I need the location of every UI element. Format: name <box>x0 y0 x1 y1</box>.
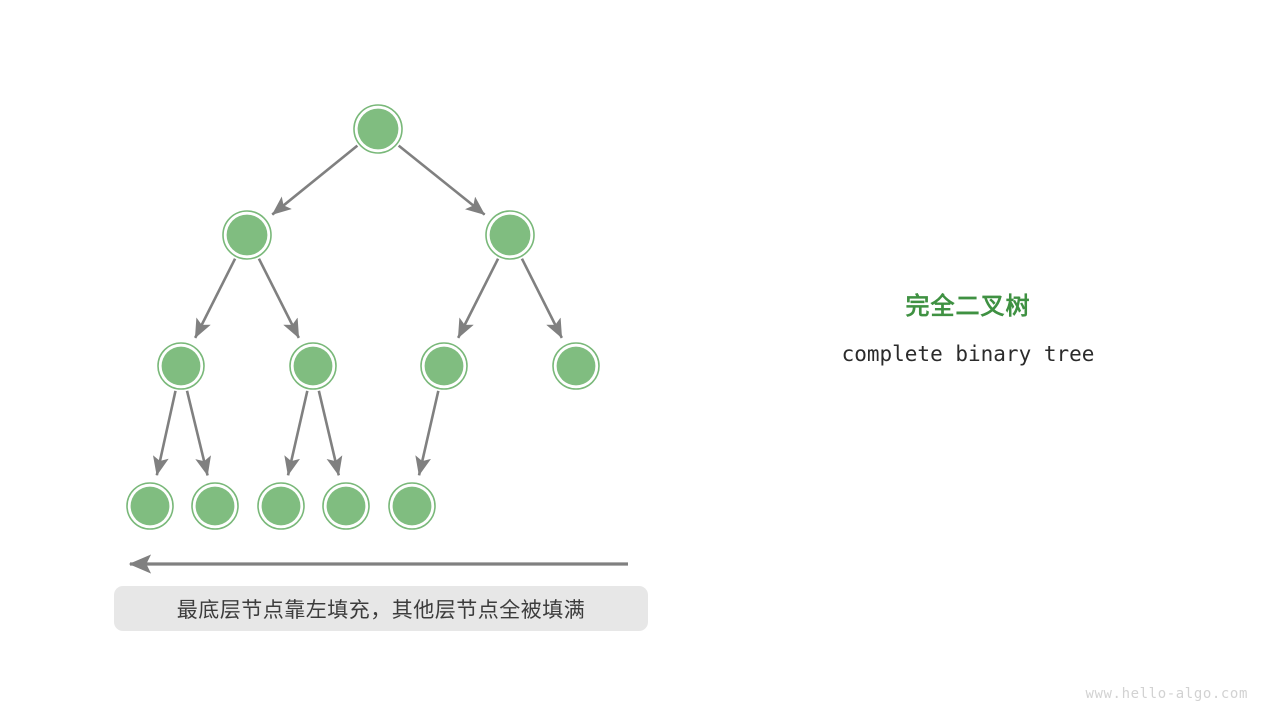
node-disc <box>358 109 399 150</box>
node-disc <box>557 347 596 386</box>
legend: 完全二叉树 complete binary tree <box>780 292 1156 369</box>
tree-edge <box>157 391 176 475</box>
tree-node <box>486 211 534 259</box>
node-disc <box>227 215 268 256</box>
legend-subtitle: complete binary tree <box>780 339 1156 369</box>
node-disc <box>162 347 201 386</box>
tree-edge <box>522 259 562 338</box>
tree-edges <box>157 146 562 476</box>
tree-edge <box>399 146 485 215</box>
tree-edge <box>458 259 498 338</box>
caption-text: 最底层节点靠左填充，其他层节点全被填满 <box>177 594 586 624</box>
tree-node <box>223 211 271 259</box>
node-disc <box>490 215 531 256</box>
tree-node <box>553 343 599 389</box>
node-disc <box>425 347 464 386</box>
tree-edge <box>288 391 307 475</box>
tree-node <box>127 483 173 529</box>
node-disc <box>327 487 366 526</box>
node-disc <box>131 487 170 526</box>
tree-node <box>421 343 467 389</box>
tree-node <box>323 483 369 529</box>
tree-node <box>158 343 204 389</box>
tree-nodes <box>127 105 599 529</box>
tree-edge <box>319 391 339 476</box>
tree-node <box>258 483 304 529</box>
tree-node <box>354 105 402 153</box>
tree-edge <box>272 146 357 215</box>
tree-edge <box>187 391 208 476</box>
watermark: www.hello-algo.com <box>1085 686 1248 702</box>
tree-edge <box>195 259 235 338</box>
tree-node <box>290 343 336 389</box>
tree-node <box>389 483 435 529</box>
node-disc <box>196 487 235 526</box>
node-disc <box>294 347 333 386</box>
node-disc <box>393 487 432 526</box>
tree-edge <box>419 391 438 475</box>
legend-title: 完全二叉树 <box>780 292 1156 322</box>
node-disc <box>262 487 301 526</box>
diagram-canvas: 完全二叉树 complete binary tree 最底层节点靠左填充，其他层… <box>0 0 1280 720</box>
tree-edge <box>259 259 299 338</box>
caption-box: 最底层节点靠左填充，其他层节点全被填满 <box>114 586 648 631</box>
tree-node <box>192 483 238 529</box>
